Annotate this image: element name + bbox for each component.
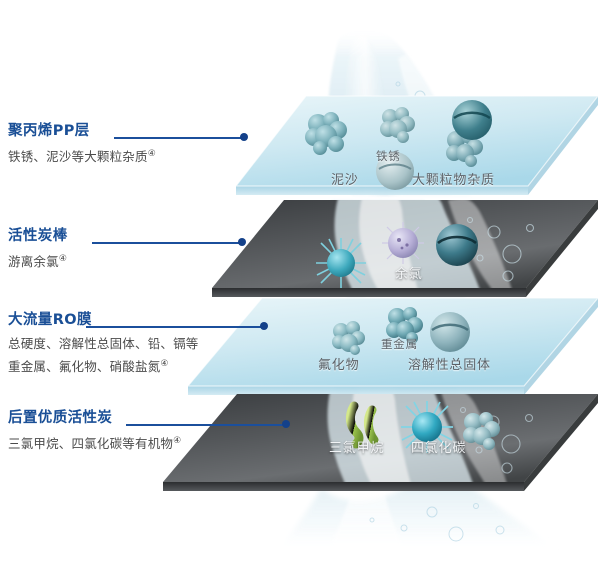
layer-title-activated-carbon-rod: 活性炭棒 xyxy=(8,227,68,245)
layer-title-post-activated-carbon: 后置优质活性炭 xyxy=(8,409,181,427)
caption-ro-membrane: 大流量RO膜 总硬度、溶解性总固体、铅、镉等 重金属、氟化物、硝酸盐氮④ xyxy=(8,311,199,376)
layer-desc-activated-carbon-rod: 游离余氯④ xyxy=(8,250,68,271)
layer-title-pp-cotton: 聚丙烯PP层 xyxy=(8,122,156,140)
particle-rust xyxy=(376,104,420,146)
connector-dot xyxy=(260,322,268,330)
filter-layers-diagram: 铁锈 泥沙 大颗粒物杂质 聚丙烯PP层 铁锈、泥沙等大颗粒杂质④ xyxy=(0,0,600,558)
contaminant-label-dakelihui: 大颗粒物杂质 xyxy=(412,169,495,188)
connector-dot xyxy=(282,420,290,428)
particle-cell-purple xyxy=(378,218,428,268)
connector-line-activated-carbon-rod xyxy=(92,236,244,250)
layer-desc-ro-membrane-2: 重金属、氟化物、硝酸盐氮④ xyxy=(8,355,199,376)
particle-sphere-3 xyxy=(434,222,480,268)
particle-silt xyxy=(300,108,356,160)
contaminant-label-rongjiexing: 溶解性总固体 xyxy=(408,354,491,373)
contaminant-label-sanlvjiawan: 三氯甲烷 xyxy=(329,437,384,456)
particle-tds xyxy=(428,310,472,354)
contaminant-label-yulv: 余氯 xyxy=(395,263,423,282)
contaminant-label-tiexiu: 铁锈 xyxy=(376,148,401,164)
layer-desc-post-activated-carbon: 三氯甲烷、四氯化碳等有机物④ xyxy=(8,432,181,453)
particle-virus-1 xyxy=(313,235,369,291)
connector-dot xyxy=(240,133,248,141)
caption-activated-carbon-rod: 活性炭棒 游离余氯④ xyxy=(8,227,68,271)
layer-desc-pp-cotton: 铁锈、泥沙等大颗粒杂质④ xyxy=(8,145,156,166)
layer-title-ro-membrane: 大流量RO膜 xyxy=(8,311,199,329)
contaminant-label-zhongjinshu: 重金属 xyxy=(381,336,418,352)
particle-sphere-2 xyxy=(450,98,494,142)
caption-pp-cotton: 聚丙烯PP层 铁锈、泥沙等大颗粒杂质④ xyxy=(8,122,156,166)
layer-desc-ro-membrane-1: 总硬度、溶解性总固体、铅、镉等 xyxy=(8,334,199,353)
caption-post-activated-carbon: 后置优质活性炭 三氯甲烷、四氯化碳等有机物④ xyxy=(8,409,181,453)
contaminant-label-fuhuawu: 氟化物 xyxy=(318,354,359,373)
contaminant-label-silvhuatan: 四氯化碳 xyxy=(411,437,466,456)
particle-fluoride xyxy=(328,318,370,358)
connector-dot xyxy=(238,238,246,246)
connector-stroke xyxy=(92,242,244,244)
contaminant-label-nisha: 泥沙 xyxy=(331,169,359,188)
